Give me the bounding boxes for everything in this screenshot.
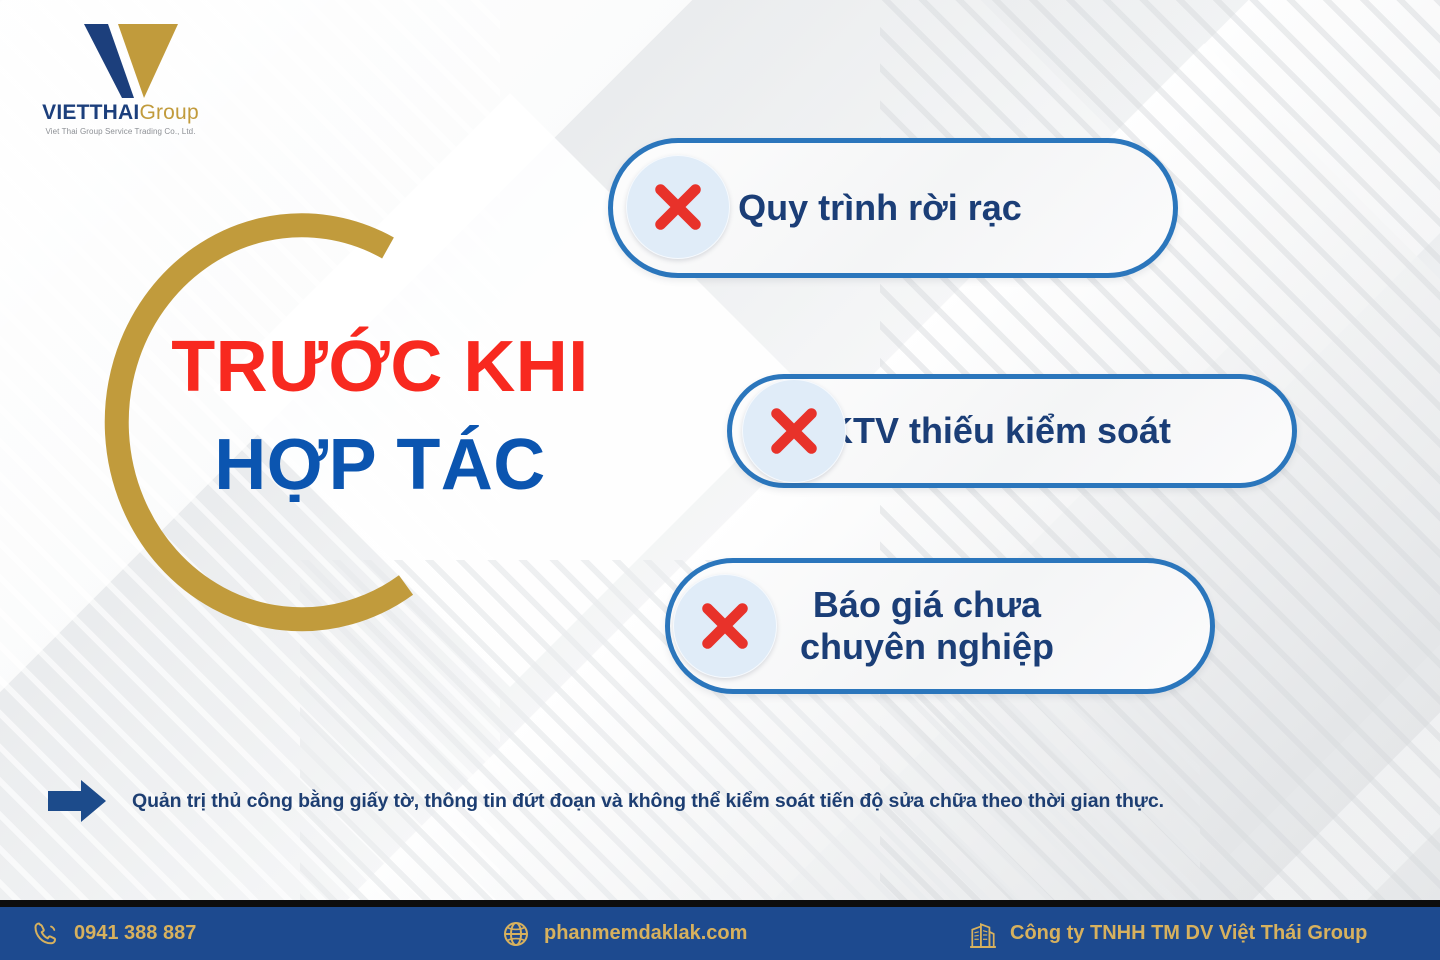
logo-wordmark: VIETTHAIGroup bbox=[28, 102, 213, 124]
logo-name-primary: VIETTHAI bbox=[42, 101, 139, 124]
right-arrow-icon bbox=[48, 778, 106, 824]
headline-line-2: HỢP TÁC bbox=[100, 423, 660, 507]
footer-bar: 0941 388 887 phanmemdaklak.com bbox=[0, 907, 1440, 960]
company-logo: VIETTHAIGroup Viet Thai Group Service Tr… bbox=[28, 22, 213, 136]
phone-icon bbox=[32, 920, 60, 948]
infographic-canvas: VIETTHAIGroup Viet Thai Group Service Tr… bbox=[0, 0, 1440, 960]
globe-icon bbox=[502, 920, 530, 948]
headline-line-1: TRƯỚC KHI bbox=[100, 325, 660, 409]
logo-tagline: Viet Thai Group Service Trading Co., Ltd… bbox=[28, 127, 213, 136]
summary-caption-text: Quản trị thủ công bằng giấy tờ, thông ti… bbox=[132, 790, 1164, 813]
vietthai-v-logo-icon bbox=[56, 22, 186, 100]
footer-divider bbox=[0, 900, 1440, 907]
summary-caption: Quản trị thủ công bằng giấy tờ, thông ti… bbox=[48, 778, 1408, 824]
page-title: TRƯỚC KHI HỢP TÁC bbox=[100, 325, 660, 507]
footer-website-label: phanmemdaklak.com bbox=[544, 922, 747, 945]
footer-company: Công ty TNHH TM DV Việt Thái Group bbox=[960, 920, 1440, 948]
footer-phone-label: 0941 388 887 bbox=[74, 922, 196, 945]
red-x-icon bbox=[742, 379, 846, 483]
building-icon bbox=[968, 920, 996, 948]
red-x-icon bbox=[626, 155, 730, 259]
logo-name-secondary: Group bbox=[139, 101, 198, 124]
footer-company-label: Công ty TNHH TM DV Việt Thái Group bbox=[1010, 922, 1367, 945]
red-x-icon bbox=[673, 574, 777, 678]
footer-phone[interactable]: 0941 388 887 bbox=[0, 920, 480, 948]
footer-website[interactable]: phanmemdaklak.com bbox=[480, 920, 960, 948]
